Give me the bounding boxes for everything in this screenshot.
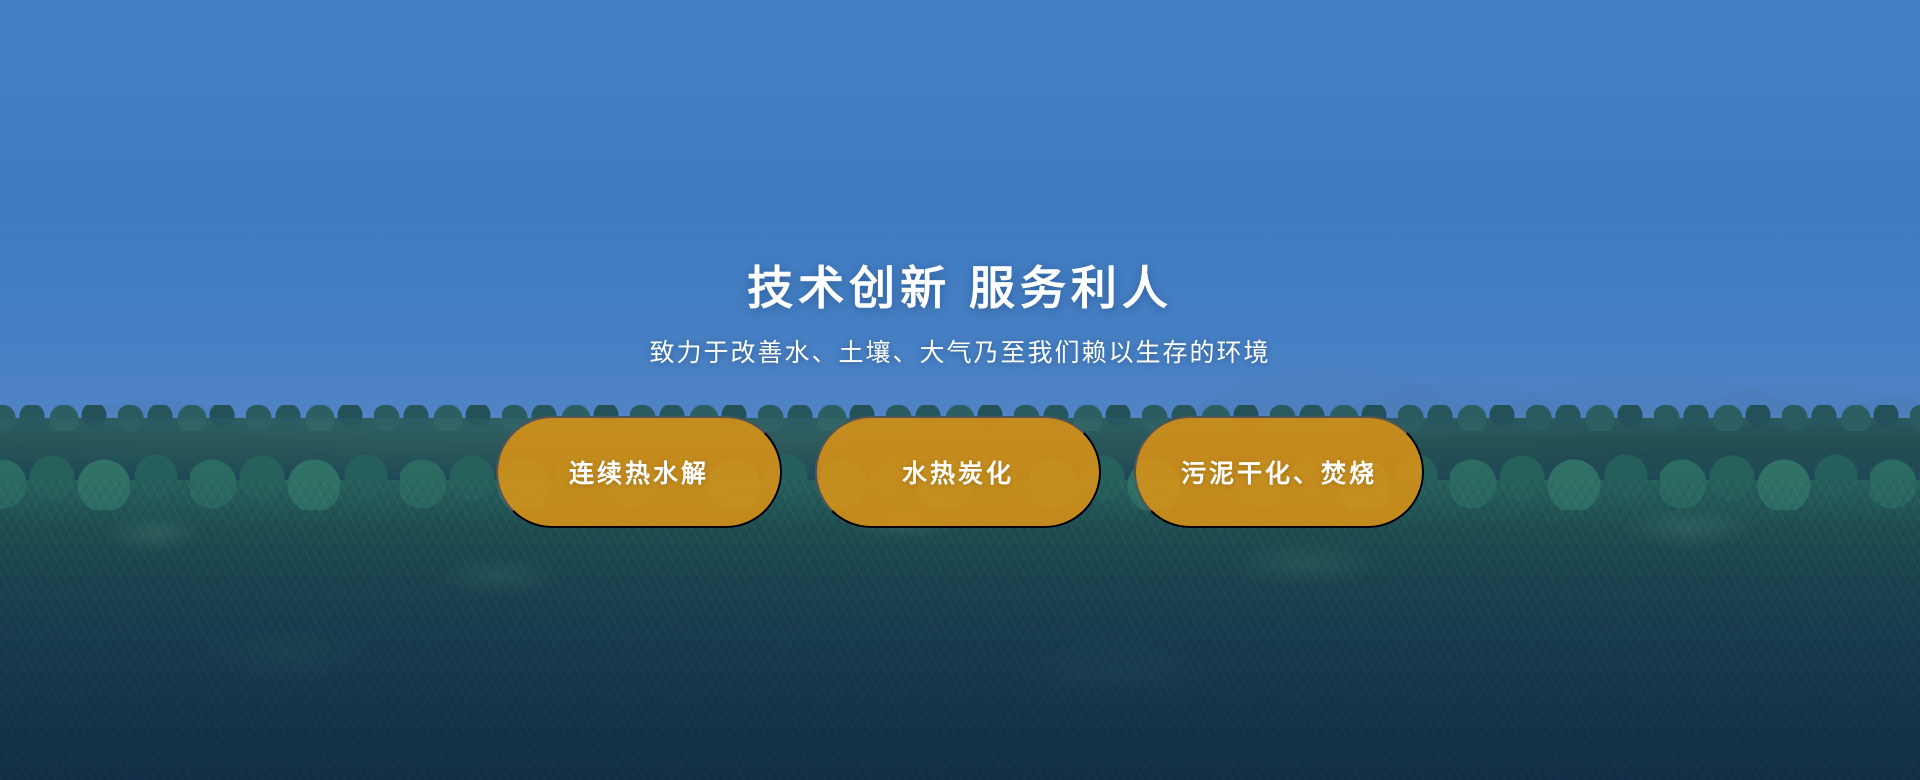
service-button-hydrothermal-carbonization[interactable]: 水热炭化 bbox=[815, 416, 1101, 528]
hero-banner: 技术创新 服务利人 致力于改善水、土壤、大气乃至我们赖以生存的环境 连续热水解 … bbox=[0, 0, 1920, 780]
service-button-row: 连续热水解 水热炭化 污泥干化、焚烧 bbox=[496, 416, 1424, 528]
service-button-sludge-drying-incineration[interactable]: 污泥干化、焚烧 bbox=[1134, 416, 1424, 528]
hero-content: 技术创新 服务利人 致力于改善水、土壤、大气乃至我们赖以生存的环境 连续热水解 … bbox=[0, 0, 1920, 780]
service-button-continuous-thermal-hydrolysis[interactable]: 连续热水解 bbox=[496, 416, 782, 528]
page-title: 技术创新 服务利人 bbox=[747, 262, 1173, 315]
hero-subtitle: 致力于改善水、土壤、大气乃至我们赖以生存的环境 bbox=[649, 333, 1270, 369]
